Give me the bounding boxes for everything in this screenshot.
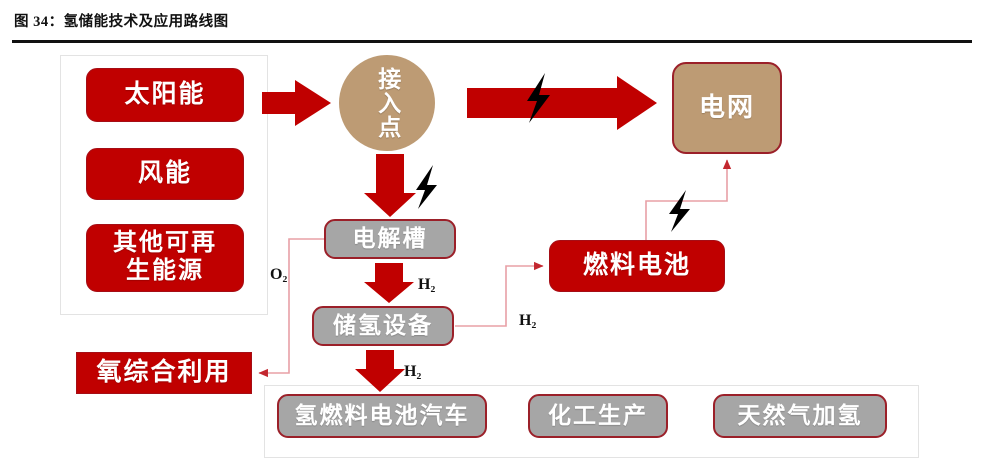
title-divider <box>12 40 972 43</box>
flow-label-h2-storage-to-fuelcell: H₂ <box>519 312 536 330</box>
flow-label-o2: O₂ <box>270 266 287 284</box>
application-box-chemical-production[interactable]: 化工生产 <box>528 394 668 438</box>
hydrogen-storage-node[interactable]: 储氢设备 <box>312 306 454 346</box>
figure-title: 图 34：氢储能技术及应用路线图 <box>14 10 229 31</box>
lightning-bolt-icon-fuelcell-to-grid <box>669 190 690 232</box>
arrow-access-to-grid <box>467 76 657 130</box>
source-box-other-renewables[interactable]: 其他可再 生能源 <box>86 224 244 292</box>
fuel-cell-node[interactable]: 燃料电池 <box>549 240 725 292</box>
connector-o2-to-oxygen-utilization <box>259 239 324 373</box>
arrow-electrolyzer-to-storage <box>364 263 414 303</box>
power-grid-node[interactable]: 电网 <box>672 62 782 154</box>
application-box-natural-gas-hydrogenation[interactable]: 天然气加氢 <box>713 394 887 438</box>
flow-label-h2-electrolyzer-to-storage: H₂ <box>418 276 435 294</box>
oxygen-utilization-node[interactable]: 氧综合利用 <box>76 352 252 394</box>
lightning-bolt-icon-access-to-electrolyzer <box>416 165 437 209</box>
electrolyzer-node[interactable]: 电解槽 <box>324 219 456 259</box>
source-box-solar[interactable]: 太阳能 <box>86 68 244 122</box>
arrow-access-to-electrolyzer <box>364 154 416 217</box>
flow-label-h2-storage-to-applications: H₂ <box>404 363 421 381</box>
source-box-wind[interactable]: 风能 <box>86 148 244 200</box>
lightning-bolt-icon-access-to-grid <box>527 73 550 123</box>
access-point-node[interactable]: 接入点 <box>339 55 435 151</box>
connector-fuelcell-to-grid <box>646 160 727 240</box>
application-box-fuel-cell-vehicle[interactable]: 氢燃料电池汽车 <box>277 394 487 438</box>
arrow-sources-to-access <box>262 80 331 126</box>
